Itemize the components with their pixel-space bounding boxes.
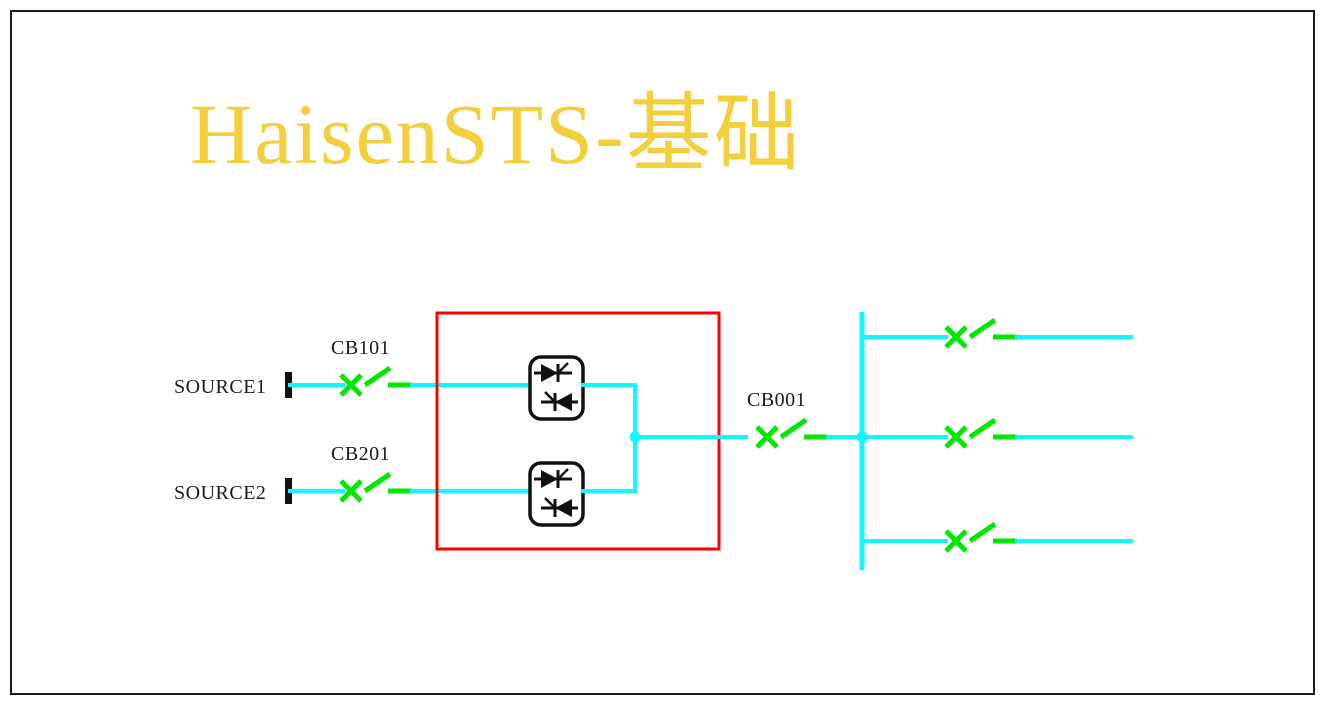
breaker-blade-icon bbox=[970, 524, 995, 541]
breaker-blade-icon bbox=[970, 420, 995, 437]
breaker-blade-icon bbox=[365, 474, 390, 491]
feeder-2 bbox=[862, 420, 1133, 447]
breaker-cb201[interactable] bbox=[341, 474, 412, 501]
breaker-blade-icon bbox=[970, 320, 995, 337]
diagram-canvas: HaisenSTS-基础 SOURCE1 CB101 bbox=[0, 0, 1327, 712]
breaker-blade-icon bbox=[781, 420, 806, 437]
sts-output-tie bbox=[581, 385, 748, 491]
source1-branch: SOURCE1 CB101 bbox=[174, 337, 533, 398]
feeder-3-breaker[interactable] bbox=[946, 524, 1017, 551]
feeder-3 bbox=[862, 524, 1133, 551]
junction-dot bbox=[630, 432, 641, 443]
sts-thyristor-module-2[interactable] bbox=[530, 463, 583, 525]
source2-label: SOURCE2 bbox=[174, 482, 266, 504]
breaker-cb201-label: CB201 bbox=[331, 443, 390, 465]
breaker-cb001[interactable] bbox=[757, 420, 828, 447]
breaker-blade-icon bbox=[365, 368, 390, 385]
breaker-cb101[interactable] bbox=[341, 368, 412, 395]
source1-label: SOURCE1 bbox=[174, 376, 266, 398]
feeder-1 bbox=[862, 320, 1133, 347]
feeder-1-breaker[interactable] bbox=[946, 320, 1017, 347]
sts-thyristor-module-1[interactable] bbox=[530, 357, 583, 419]
source2-branch: SOURCE2 CB201 bbox=[174, 443, 533, 504]
feeder-2-breaker[interactable] bbox=[946, 420, 1017, 447]
breaker-cb001-label: CB001 bbox=[747, 389, 806, 411]
breaker-cb101-label: CB101 bbox=[331, 337, 390, 359]
single-line-diagram: SOURCE1 CB101 SOURCE2 CB201 bbox=[0, 0, 1327, 712]
